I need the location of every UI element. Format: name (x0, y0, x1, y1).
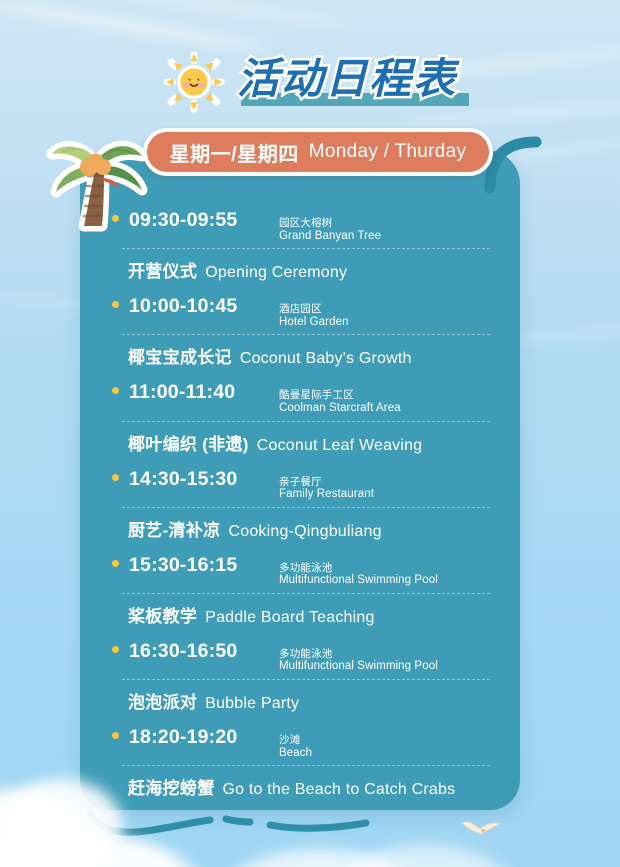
schedule-item-head: 10:00-10:45 酒店园区 Hotel Garden (108, 295, 492, 329)
location-cn: 园区大榕树 (279, 218, 381, 230)
schedule-item-location: 多功能泳池 Multifunctional Swimming Pool (279, 649, 438, 674)
activity-cn: 泡泡派对 (128, 688, 197, 713)
day-label-cn: 星期一/星期四 (170, 138, 299, 167)
schedule-item-location: 酷曼星际手工区 Coolman Starcraft Area (279, 390, 401, 415)
activity-cn: 赶海挖螃蟹 (128, 774, 215, 799)
schedule-item[interactable]: 16:30-16:50 多功能泳池 Multifunctional Swimmi… (108, 633, 492, 719)
schedule-item[interactable]: 14:30-15:30 亲子餐厅 Family Restaurant 厨艺-清补… (108, 461, 492, 547)
activity-cn: 桨板教学 (128, 602, 197, 627)
schedule-item-time: 15:30-16:15 (129, 554, 269, 577)
schedule-item-head: 11:00-11:40 酷曼星际手工区 Coolman Starcraft Ar… (108, 381, 492, 415)
schedule-item[interactable]: 11:00-11:40 酷曼星际手工区 Coolman Starcraft Ar… (108, 374, 492, 460)
day-banner: 星期一/星期四 Monday / Thurday (143, 128, 493, 176)
location-en: Grand Banyan Tree (279, 230, 381, 243)
day-label-en: Monday / Thurday (309, 141, 467, 163)
seagull-icon (460, 817, 502, 839)
schedule-list: 09:30-09:55 园区大榕树 Grand Banyan Tree 开营仪式… (80, 202, 520, 800)
location-cn: 酷曼星际手工区 (279, 390, 401, 402)
bullet-icon (112, 474, 119, 481)
location-en: Beach (279, 747, 312, 760)
location-en: Hotel Garden (279, 316, 349, 329)
bullet-icon (112, 732, 119, 739)
schedule-item-time: 10:00-10:45 (129, 295, 269, 318)
location-en: Family Restaurant (279, 488, 374, 501)
activity-en: Opening Ceremony (205, 264, 347, 282)
schedule-item-head: 16:30-16:50 多功能泳池 Multifunctional Swimmi… (108, 640, 492, 674)
schedule-item-activity: 椰叶编织 (非遗) Coconut Leaf Weaving (108, 422, 492, 455)
activity-cn: 开营仪式 (128, 257, 197, 282)
schedule-item-time: 11:00-11:40 (129, 381, 269, 404)
schedule-item-time: 14:30-15:30 (129, 468, 269, 491)
location-cn: 多功能泳池 (279, 563, 438, 575)
schedule-item-activity: 桨板教学 Paddle Board Teaching (108, 594, 492, 627)
schedule-item-location: 酒店园区 Hotel Garden (279, 304, 349, 329)
schedule-item-location: 多功能泳池 Multifunctional Swimming Pool (279, 563, 438, 588)
location-en: Multifunctional Swimming Pool (279, 660, 438, 673)
activity-en: Paddle Board Teaching (205, 609, 374, 627)
schedule-item-head: 18:20-19:20 沙滩 Beach (108, 726, 492, 760)
location-cn: 多功能泳池 (279, 649, 438, 661)
schedule-item-time: 16:30-16:50 (129, 640, 269, 663)
schedule-item-activity: 开营仪式 Opening Ceremony (108, 249, 492, 282)
bullet-icon (112, 215, 119, 222)
schedule-item-head: 15:30-16:15 多功能泳池 Multifunctional Swimmi… (108, 554, 492, 588)
bullet-icon (112, 560, 119, 567)
schedule-item-activity: 赶海挖螃蟹 Go to the Beach to Catch Crabs (108, 766, 492, 799)
cloud-streak (120, 0, 349, 27)
corner-arc-icon (484, 134, 550, 194)
location-cn: 亲子餐厅 (279, 477, 374, 489)
schedule-item[interactable]: 18:20-19:20 沙滩 Beach 赶海挖螃蟹 Go to the Bea… (108, 719, 492, 805)
schedule-item-location: 园区大榕树 Grand Banyan Tree (279, 218, 381, 243)
poster-header: 活动日程表 (0, 46, 620, 118)
schedule-item-activity: 泡泡派对 Bubble Party (108, 680, 492, 713)
schedule-card: 星期一/星期四 Monday / Thurday (80, 150, 520, 810)
activity-cn: 椰宝宝成长记 (128, 343, 232, 368)
location-en: Multifunctional Swimming Pool (279, 574, 438, 587)
activity-en: Bubble Party (205, 695, 299, 713)
bullet-icon (112, 646, 119, 653)
schedule-item-head: 14:30-15:30 亲子餐厅 Family Restaurant (108, 468, 492, 502)
schedule-item-activity: 厨艺-清补凉 Cooking-Qingbuliang (108, 508, 492, 541)
location-cn: 酒店园区 (279, 304, 349, 316)
sun-icon (163, 51, 225, 113)
schedule-item-location: 亲子餐厅 Family Restaurant (279, 477, 374, 502)
activity-en: Coconut Baby's Growth (240, 350, 412, 368)
schedule-item-time: 18:20-19:20 (129, 726, 269, 749)
activity-en: Go to the Beach to Catch Crabs (223, 781, 456, 799)
schedule-item-location: 沙滩 Beach (279, 735, 312, 760)
activity-en: Cooking-Qingbuliang (228, 523, 381, 541)
page-title: 活动日程表 (237, 56, 457, 108)
location-cn: 沙滩 (279, 735, 312, 747)
location-en: Coolman Starcraft Area (279, 402, 401, 415)
bullet-icon (112, 301, 119, 308)
page-title-text: 活动日程表 (237, 56, 457, 102)
activity-cn: 厨艺-清补凉 (128, 516, 220, 541)
poster-page: 活动日程表 星期一/星期四 Monday / Thurday (0, 0, 620, 867)
schedule-item-head: 09:30-09:55 园区大榕树 Grand Banyan Tree (108, 209, 492, 243)
schedule-item-activity: 椰宝宝成长记 Coconut Baby's Growth (108, 335, 492, 368)
activity-en: Coconut Leaf Weaving (257, 437, 423, 455)
schedule-item[interactable]: 15:30-16:15 多功能泳池 Multifunctional Swimmi… (108, 547, 492, 633)
schedule-item[interactable]: 10:00-10:45 酒店园区 Hotel Garden 椰宝宝成长记 Coc… (108, 288, 492, 374)
bullet-icon (112, 387, 119, 394)
schedule-item-time: 09:30-09:55 (129, 209, 269, 232)
schedule-item[interactable]: 09:30-09:55 园区大榕树 Grand Banyan Tree 开营仪式… (108, 202, 492, 288)
activity-cn: 椰叶编织 (非遗) (128, 430, 249, 455)
